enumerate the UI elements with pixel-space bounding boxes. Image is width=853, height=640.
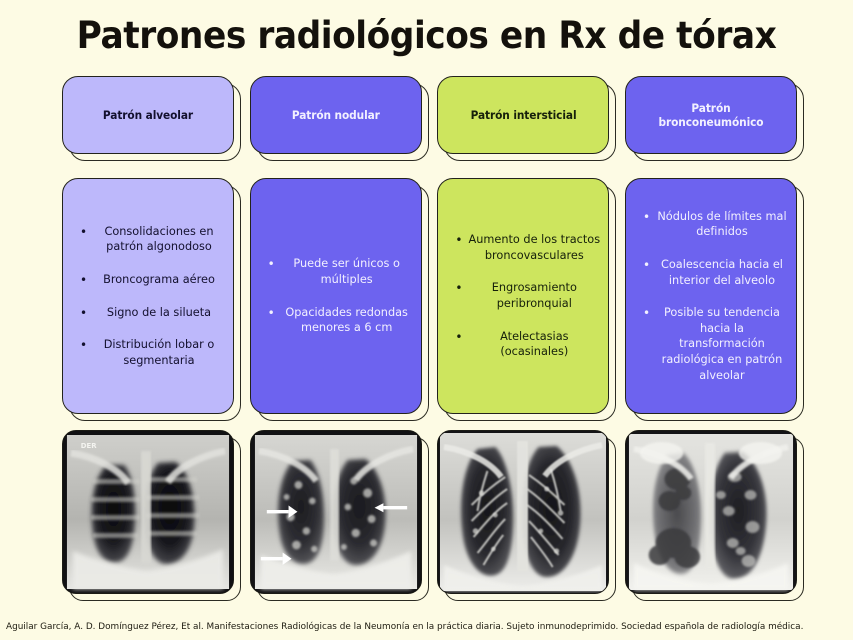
pattern-column-alveolar: Patrón alveolar Consolidaciones en patró… bbox=[62, 76, 234, 594]
header-card-nodular[interactable]: Patrón nodular bbox=[250, 76, 422, 154]
pattern-column-bronchopneumonic: Patrón bronconeumónico Nódulos de límite… bbox=[625, 76, 797, 594]
body-card-interstitial: Aumento de los tractos broncovasculares … bbox=[437, 178, 609, 414]
header-card-label-bronchopneumonic: Patrón bronconeumónico bbox=[640, 101, 782, 130]
list-item: Consolidaciones en patrón algonodoso bbox=[67, 224, 225, 255]
xray-image-alveolar: DER bbox=[63, 431, 233, 593]
header-card-wrapper-interstitial: Patrón intersticial bbox=[437, 76, 609, 154]
bullet-list-alveolar: Consolidaciones en patrón algonodoso Bro… bbox=[67, 224, 225, 368]
chest-xray-bronchopneumonic-pattern bbox=[625, 430, 797, 594]
body-card-wrapper-bronchopneumonic: Nódulos de límites mal definidos Coalesc… bbox=[625, 178, 797, 414]
body-card-nodular: Puede ser únicos o múltiples Opacidades … bbox=[250, 178, 422, 414]
list-item: Nódulos de límites mal definidos bbox=[630, 209, 788, 240]
source-citation: Aguilar García, A. D. Domínguez Pérez, E… bbox=[6, 621, 821, 632]
header-card-wrapper-alveolar: Patrón alveolar bbox=[62, 76, 234, 154]
body-card-alveolar: Consolidaciones en patrón algonodoso Bro… bbox=[62, 178, 234, 414]
header-card-wrapper-nodular: Patrón nodular bbox=[250, 76, 422, 154]
list-item: Distribución lobar o segmentaria bbox=[67, 337, 225, 368]
bullet-list-bronchopneumonic: Nódulos de límites mal definidos Coalesc… bbox=[630, 209, 788, 383]
header-card-alveolar[interactable]: Patrón alveolar bbox=[62, 76, 234, 154]
pattern-column-interstitial: Patrón intersticial Aumento de los tract… bbox=[437, 76, 609, 594]
bullet-list-nodular: Puede ser únicos o múltiples Opacidades … bbox=[255, 256, 413, 335]
xray-image-interstitial bbox=[438, 431, 608, 593]
header-card-interstitial[interactable]: Patrón intersticial bbox=[437, 76, 609, 154]
body-card-wrapper-alveolar: Consolidaciones en patrón algonodoso Bro… bbox=[62, 178, 234, 414]
header-card-wrapper-bronchopneumonic: Patrón bronconeumónico bbox=[625, 76, 797, 154]
list-item: Posible su tendencia hacia la transforma… bbox=[630, 305, 788, 383]
chest-xray-interstitial-pattern bbox=[437, 430, 609, 594]
page-title: Patrones radiológicos en Rx de tórax bbox=[30, 14, 823, 57]
xray-wrapper-nodular bbox=[250, 430, 422, 594]
xray-image-nodular bbox=[251, 431, 421, 593]
xray-wrapper-alveolar: DER bbox=[62, 430, 234, 594]
xray-wrapper-interstitial bbox=[437, 430, 609, 594]
list-item: Broncograma aéreo bbox=[67, 272, 225, 288]
body-card-wrapper-nodular: Puede ser únicos o múltiples Opacidades … bbox=[250, 178, 422, 414]
body-card-bronchopneumonic: Nódulos de límites mal definidos Coalesc… bbox=[625, 178, 797, 414]
xray-marker-label: DER bbox=[81, 442, 97, 450]
chest-xray-nodular-pattern bbox=[250, 430, 422, 594]
header-card-bronchopneumonic[interactable]: Patrón bronconeumónico bbox=[625, 76, 797, 154]
list-item: Engrosamiento peribronquial bbox=[442, 280, 600, 311]
xray-wrapper-bronchopneumonic bbox=[625, 430, 797, 594]
list-item: Atelectasias (ocasinales) bbox=[442, 329, 600, 360]
bullet-list-interstitial: Aumento de los tractos broncovasculares … bbox=[442, 232, 600, 359]
list-item: Puede ser únicos o múltiples bbox=[255, 256, 413, 287]
chest-xray-alveolar-pattern: DER bbox=[62, 430, 234, 594]
body-card-wrapper-interstitial: Aumento de los tractos broncovasculares … bbox=[437, 178, 609, 414]
header-card-label-nodular: Patrón nodular bbox=[292, 108, 380, 122]
pattern-columns: Patrón alveolar Consolidaciones en patró… bbox=[62, 76, 797, 594]
header-card-label-interstitial: Patrón intersticial bbox=[470, 108, 576, 122]
header-card-label-alveolar: Patrón alveolar bbox=[103, 108, 193, 122]
pattern-column-nodular: Patrón nodular Puede ser únicos o múltip… bbox=[250, 76, 422, 594]
list-item: Signo de la silueta bbox=[67, 305, 225, 321]
list-item: Opacidades redondas menores a 6 cm bbox=[255, 305, 413, 336]
xray-image-bronchopneumonic bbox=[626, 431, 796, 593]
list-item: Coalescencia hacia el interior del alveo… bbox=[630, 257, 788, 288]
list-item: Aumento de los tractos broncovasculares bbox=[442, 232, 600, 263]
infographic-poster: Patrones radiológicos en Rx de tórax Pat… bbox=[0, 0, 853, 640]
